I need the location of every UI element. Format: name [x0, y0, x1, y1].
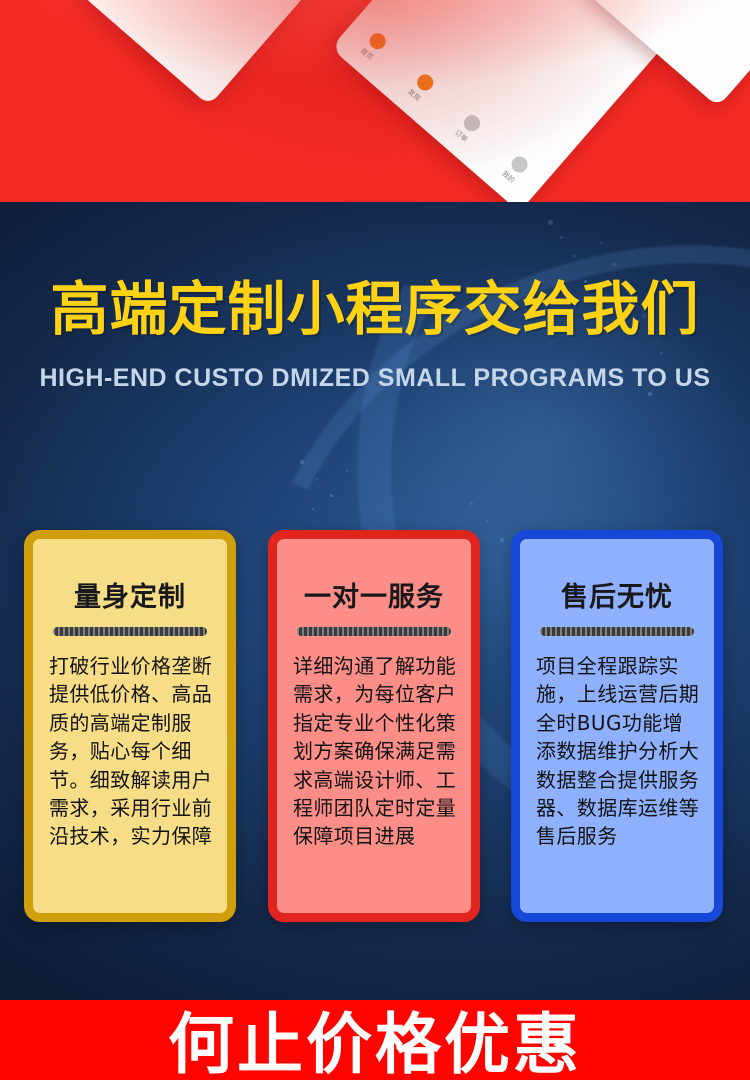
nav-item-profile: 我的 [488, 143, 542, 196]
bubble-dot [312, 508, 314, 510]
feature-card-list: 量身定制 打破行业价格垄断提供低价格、高品质的高端定制服务，贴心每个细节。细致解… [0, 530, 750, 930]
profile-icon [508, 153, 531, 176]
bubble-dot [572, 254, 576, 258]
discover-icon [414, 71, 437, 94]
promo-page: 100 手机端专享优惠 [0, 0, 750, 1080]
bubble-dot [600, 242, 602, 244]
bubble-dot [548, 220, 553, 225]
page-subtitle: HIGH-END CUSTO DMIZED SMALL PROGRAMS TO … [0, 364, 750, 393]
bottom-banner-title: 何止价格优惠 [0, 1012, 750, 1078]
feature-card-tailor-made[interactable]: 量身定制 打破行业价格垄断提供低价格、高品质的高端定制服务，贴心每个细节。细致解… [24, 530, 236, 922]
card-divider [297, 627, 451, 636]
nav-item-home: 首页 [346, 20, 400, 73]
bubble-dot [316, 478, 318, 480]
card-divider [53, 627, 207, 636]
card-title: 售后无忧 [520, 575, 714, 614]
bubble-dot [300, 460, 304, 464]
orders-icon [461, 112, 484, 135]
bubble-dot [330, 494, 333, 497]
card-body: 详细沟通了解功能需求，为每位客户指定专业个性化策划方案确保满足需求高端设计师、工… [293, 652, 457, 851]
card-body: 项目全程跟踪实施，上线运营后期全时BUG功能增添数据维护分析大数据整合提供服务器… [536, 652, 700, 851]
card-divider [540, 627, 694, 636]
phone-bottom-nav: 首页 发现 订单 我的 [340, 15, 548, 202]
bottom-red-banner: 何止价格优惠 [0, 1000, 750, 1080]
hero-heading-wrap: 高端定制小程序交给我们 HIGH-END CUSTO DMIZED SMALL … [0, 278, 750, 393]
bubble-dot [560, 236, 563, 239]
bubble-dot [486, 520, 488, 522]
bubble-dot [470, 502, 473, 505]
nav-item-discover: 发现 [393, 61, 447, 114]
home-icon [367, 30, 390, 53]
bubble-dot [612, 262, 617, 267]
card-title: 量身定制 [33, 575, 227, 614]
feature-card-one-on-one-service[interactable]: 一对一服务 详细沟通了解功能需求，为每位客户指定专业个性化策划方案确保满足需求高… [268, 530, 480, 922]
card-title: 一对一服务 [277, 575, 471, 614]
hero-blue-section: 高端定制小程序交给我们 HIGH-END CUSTO DMIZED SMALL … [0, 202, 750, 1000]
feature-card-worry-free-after-sales[interactable]: 售后无忧 项目全程跟踪实施，上线运营后期全时BUG功能增添数据维护分析大数据整合… [511, 530, 723, 922]
page-title: 高端定制小程序交给我们 [0, 278, 750, 342]
nav-item-orders: 订单 [440, 102, 494, 155]
bubble-dot [556, 268, 558, 270]
card-body: 打破行业价格垄断提供低价格、高品质的高端定制服务，贴心每个细节。细致解读用户需求… [49, 652, 213, 851]
top-red-banner: 100 手机端专享优惠 [0, 0, 750, 202]
bubble-dot [346, 470, 348, 472]
